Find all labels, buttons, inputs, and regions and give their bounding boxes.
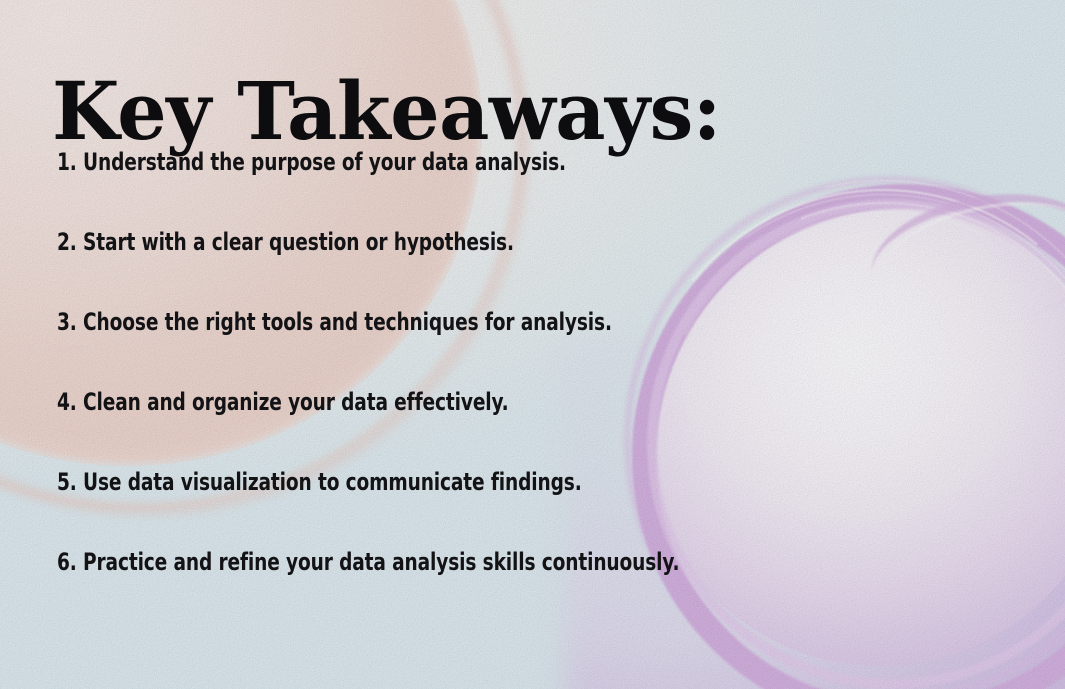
page-title: Key Takeaways: (52, 71, 721, 151)
list-item: 2. Start with a clear question or hypoth… (57, 230, 865, 310)
list-item: 5. Use data visualization to communicate… (57, 470, 865, 550)
takeaways-list: 1. Understand the purpose of your data a… (57, 150, 997, 630)
list-item: 3. Choose the right tools and techniques… (57, 310, 865, 390)
list-item: 4. Clean and organize your data effectiv… (57, 390, 865, 470)
list-item: 6. Practice and refine your data analysi… (57, 550, 865, 630)
list-item: 1. Understand the purpose of your data a… (57, 150, 865, 230)
slide-canvas: Key Takeaways: 1. Understand the purpose… (0, 0, 1065, 689)
slide-content: Key Takeaways: 1. Understand the purpose… (0, 0, 1065, 689)
